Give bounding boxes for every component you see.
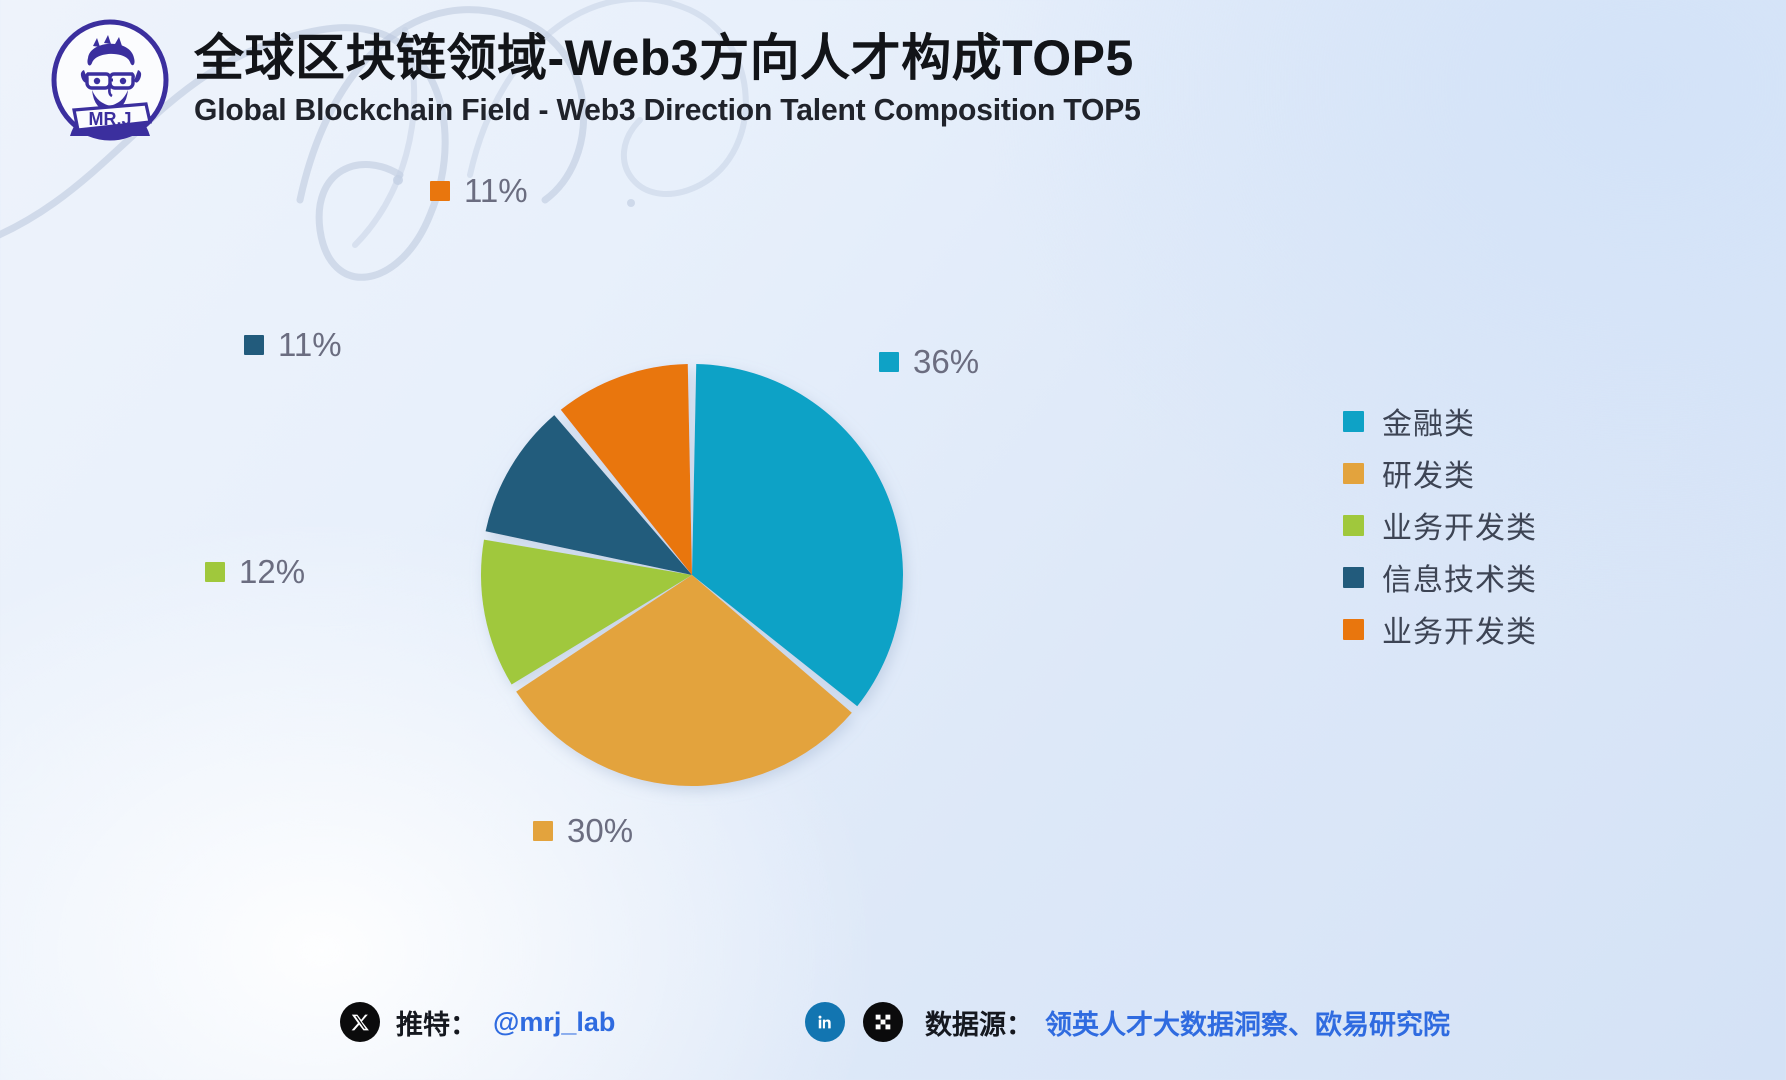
chart-legend: 金融类 研发类 业务开发类 信息技术类 业务开发类 xyxy=(1343,395,1537,655)
legend-item-rnd[interactable]: 研发类 xyxy=(1343,447,1537,499)
legend-swatch-icon xyxy=(1343,619,1364,640)
data-label-value: 30% xyxy=(567,812,633,850)
page-title-en: Global Blockchain Field - Web3 Direction… xyxy=(194,92,1141,128)
data-label-amber: 30% xyxy=(533,812,633,850)
data-label-swatch xyxy=(879,352,899,372)
source-label: 数据源： xyxy=(925,1003,1033,1042)
data-label-swatch xyxy=(205,562,225,582)
twitter-handle[interactable]: @mrj_lab xyxy=(493,1007,615,1038)
data-label-value: 11% xyxy=(278,326,342,364)
legend-label: 信息技术类 xyxy=(1382,555,1537,599)
data-label-navy: 11% xyxy=(244,326,342,364)
mr-j-avatar-logo: MR.J xyxy=(48,18,172,142)
data-label-orange-top: 11% xyxy=(430,172,528,210)
data-label-swatch xyxy=(430,181,450,201)
x-twitter-icon[interactable] xyxy=(340,1002,380,1042)
legend-label: 研发类 xyxy=(1382,451,1475,495)
title-block: 全球区块链领域-Web3方向人才构成TOP5 Global Blockchain… xyxy=(194,18,1170,128)
header: MR.J 全球区块链领域-Web3方向人才构成TOP5 Global Block… xyxy=(48,18,1170,142)
footer: 推特： @mrj_lab 数据 xyxy=(0,994,1786,1050)
source-value[interactable]: 领英人才大数据洞察、欧易研究院 xyxy=(1045,1003,1450,1042)
legend-item-business-dev-green[interactable]: 业务开发类 xyxy=(1343,499,1537,551)
twitter-label: 推特： xyxy=(396,1003,477,1042)
legend-swatch-icon xyxy=(1343,567,1364,588)
data-label-value: 36% xyxy=(913,343,979,381)
okx-icon[interactable] xyxy=(863,1002,903,1042)
data-label-swatch xyxy=(244,335,264,355)
legend-item-business-dev-orange[interactable]: 业务开发类 xyxy=(1343,603,1537,655)
infographic-canvas: MR.J 全球区块链领域-Web3方向人才构成TOP5 Global Block… xyxy=(0,0,1786,1080)
legend-item-finance[interactable]: 金融类 xyxy=(1343,395,1537,447)
legend-swatch-icon xyxy=(1343,463,1364,484)
legend-label: 金融类 xyxy=(1382,399,1475,443)
data-label-cyan: 36% xyxy=(879,343,979,381)
legend-label: 业务开发类 xyxy=(1382,607,1537,651)
linkedin-icon[interactable] xyxy=(805,1002,845,1042)
page-title-cn: 全球区块链领域-Web3方向人才构成TOP5 xyxy=(194,30,1170,86)
footer-source-group: 数据源： 领英人才大数据洞察、欧易研究院 xyxy=(805,1002,1450,1042)
data-label-swatch xyxy=(533,821,553,841)
legend-swatch-icon xyxy=(1343,515,1364,536)
pie-chart xyxy=(0,0,1200,1080)
legend-label: 业务开发类 xyxy=(1382,503,1537,547)
legend-item-it[interactable]: 信息技术类 xyxy=(1343,551,1537,603)
data-label-green: 12% xyxy=(205,553,305,591)
data-label-value: 12% xyxy=(239,553,305,591)
legend-swatch-icon xyxy=(1343,411,1364,432)
data-label-value: 11% xyxy=(464,172,528,210)
logo-wordmark: MR.J xyxy=(88,109,131,129)
footer-twitter-group: 推特： @mrj_lab xyxy=(340,1002,615,1042)
